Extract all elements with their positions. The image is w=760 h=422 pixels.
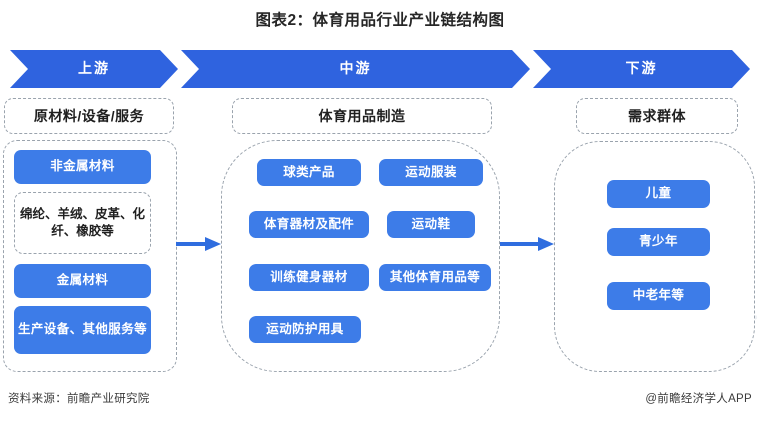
chart-title: 图表2：体育用品行业产业链结构图 — [0, 8, 760, 30]
upstream-item-metal: 金属材料 — [14, 264, 151, 298]
stage-downstream-label: 下游 — [626, 58, 658, 78]
upstream-header: 原材料/设备/服务 — [4, 98, 174, 134]
downstream-header: 需求群体 — [576, 98, 738, 134]
downstream-item-youth: 青少年 — [607, 228, 710, 256]
midstream-item-fitness-equipment: 训练健身器材 — [249, 264, 369, 291]
midstream-item-equipment-accessories: 体育器材及配件 — [249, 211, 369, 238]
stage-upstream-label: 上游 — [78, 58, 110, 78]
midstream-item-sports-shoes: 运动鞋 — [387, 211, 475, 238]
stage-downstream: 下游 — [533, 50, 750, 88]
infographic-root: 前瞻产业研究院 前瞻产业研究院 前瞻产业研究院 前瞻产业研究院 前瞻产业研究院 … — [0, 0, 760, 422]
midstream-item-other-goods: 其他体育用品等 — [379, 264, 491, 291]
arrow-right-icon — [500, 235, 554, 253]
stage-midstream-label: 中游 — [340, 58, 372, 78]
upstream-item-nonmetal: 非金属材料 — [14, 150, 151, 184]
midstream-item-sportswear: 运动服装 — [379, 159, 483, 186]
midstream-header: 体育用品制造 — [232, 98, 492, 134]
stage-midstream: 中游 — [181, 50, 530, 88]
arrow-right-icon — [176, 235, 221, 253]
brand-credit: @前瞻经济学人APP — [645, 390, 752, 406]
downstream-panel — [554, 141, 755, 372]
downstream-item-children: 儿童 — [607, 180, 710, 208]
midstream-item-protective-gear: 运动防护用具 — [249, 316, 361, 343]
stage-upstream: 上游 — [10, 50, 178, 88]
upstream-item-equipment-service: 生产设备、其他服务等 — [14, 306, 151, 354]
stage-banner: 上游 中游 下游 — [10, 50, 750, 88]
downstream-item-elderly: 中老年等 — [607, 282, 710, 310]
upstream-item-materials-note: 绵纶、羊绒、皮革、化纤、橡胶等 — [14, 192, 151, 254]
source-note: 资料来源：前瞻产业研究院 — [8, 390, 150, 406]
midstream-item-ball-products: 球类产品 — [257, 159, 361, 186]
